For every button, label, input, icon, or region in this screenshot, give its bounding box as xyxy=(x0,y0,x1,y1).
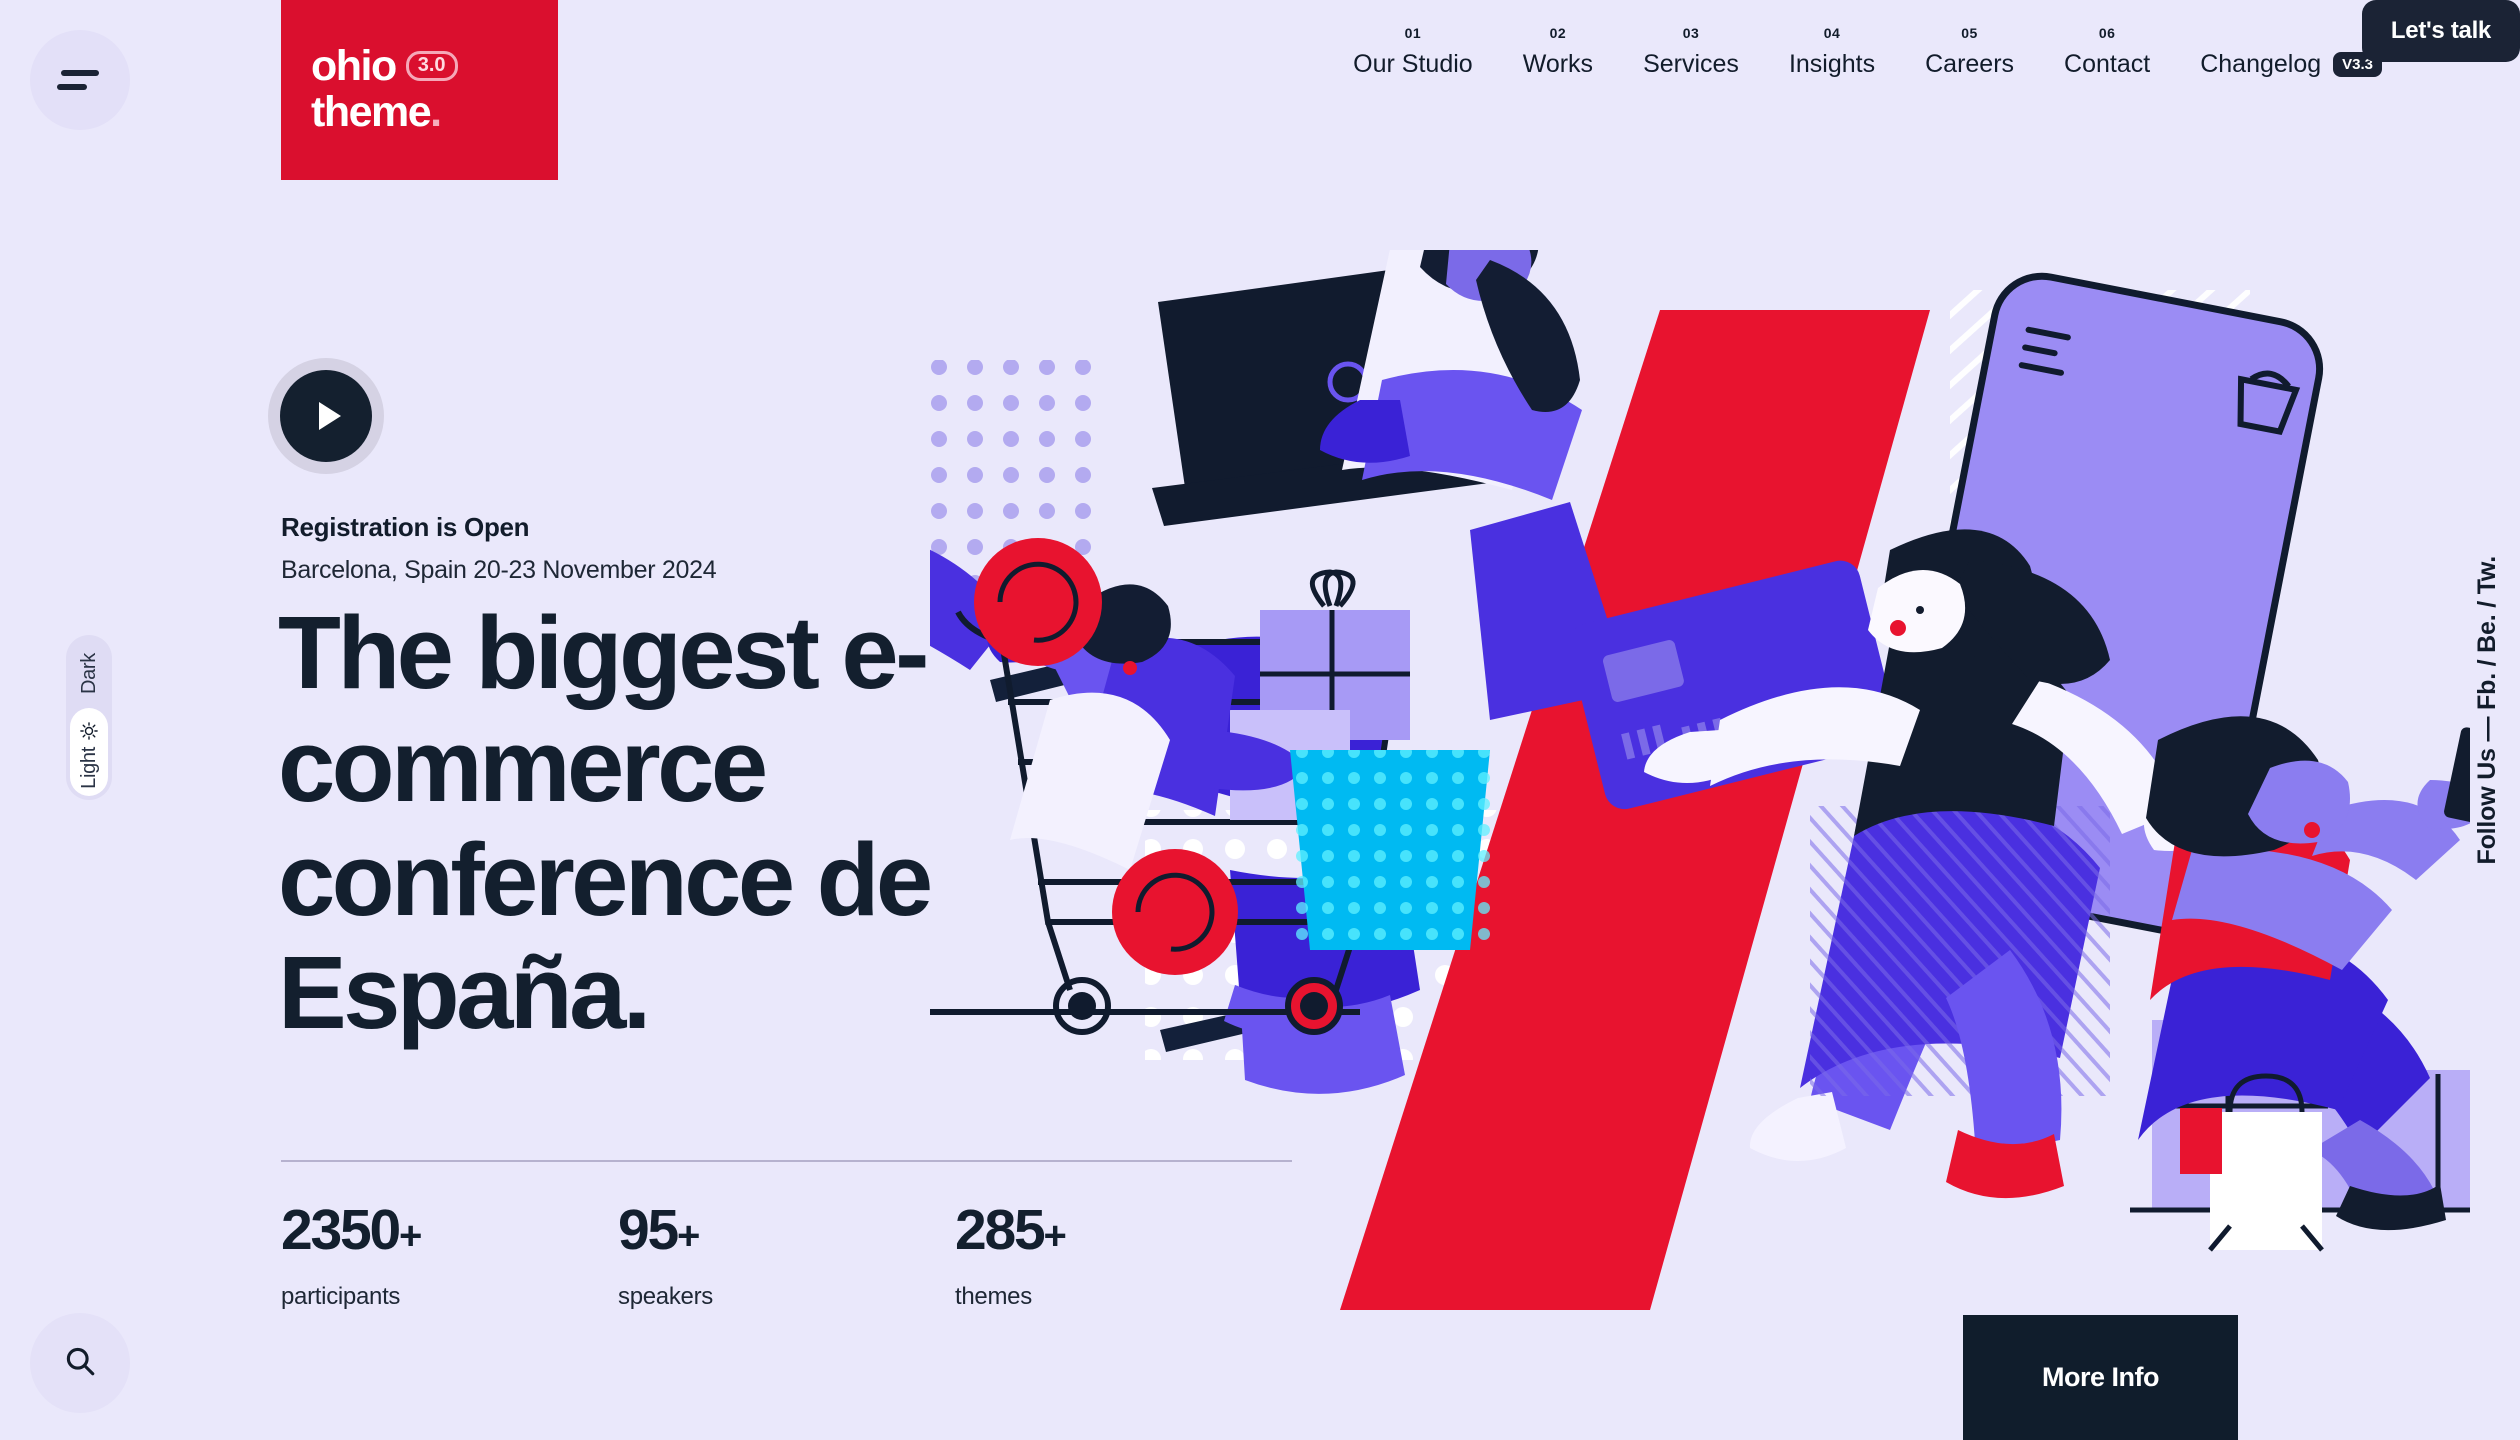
woman-seated-with-phone xyxy=(2130,716,2470,1250)
logo-version-badge: 3.0 xyxy=(406,51,458,81)
more-info-button[interactable]: More Info xyxy=(1963,1315,2238,1440)
more-info-label: More Info xyxy=(2042,1362,2159,1393)
cyan-shopping-bag xyxy=(1290,750,1490,950)
stat-value: 2350+ xyxy=(281,1202,618,1259)
logo-top-row: ohio 3.0 xyxy=(311,45,458,88)
nav-index: 02 xyxy=(1550,26,1567,40)
play-button-core xyxy=(280,370,372,462)
stat-speakers: 95+ speakers xyxy=(618,1160,955,1311)
hamburger-icon-line-1 xyxy=(61,70,99,76)
theme-option-light[interactable]: Light xyxy=(70,708,108,796)
main-navigation: 01 Our Studio 02 Works 03 Services 04 In… xyxy=(1328,52,2390,77)
nav-index: 04 xyxy=(1824,26,1841,40)
social-follow-label: Follow Us — Fb. / Be. / Tw. xyxy=(2473,556,2502,865)
social-follow-links[interactable]: Follow Us — Fb. / Be. / Tw. xyxy=(2473,540,2502,880)
page-root: ohio 3.0 theme. 01 Our Studio 02 Works 0… xyxy=(0,0,2520,1440)
nav-index: 06 xyxy=(2099,26,2116,40)
stat-suffix: + xyxy=(677,1214,699,1258)
logo-name: ohio xyxy=(311,45,396,88)
play-video-button[interactable] xyxy=(268,358,384,474)
theme-option-light-label: Light xyxy=(78,747,101,789)
nav-label: Services xyxy=(1643,50,1739,78)
nav-item-our-studio[interactable]: 01 Our Studio xyxy=(1328,52,1498,77)
red-circle-outline-bottom xyxy=(1112,849,1238,975)
nav-label: Our Studio xyxy=(1353,50,1473,78)
hero-eyebrow: Registration is Open xyxy=(281,512,529,543)
stat-label: speakers xyxy=(618,1283,955,1311)
stat-label: participants xyxy=(281,1283,618,1311)
hamburger-icon-line-2 xyxy=(57,84,87,90)
nav-label: Insights xyxy=(1789,50,1875,78)
nav-item-contact[interactable]: 06 Contact xyxy=(2039,52,2175,77)
hero-headline: The biggest e-commerce conference de Esp… xyxy=(278,596,1038,1049)
stat-suffix: + xyxy=(399,1214,421,1258)
logo-dot: . xyxy=(430,88,440,136)
nav-label: Works xyxy=(1523,50,1593,78)
theme-toggle[interactable]: Dark Light xyxy=(66,635,112,800)
stat-participants: 2350+ participants xyxy=(281,1160,618,1311)
site-logo[interactable]: ohio 3.0 theme. xyxy=(281,0,558,180)
stat-value: 95+ xyxy=(618,1202,955,1259)
nav-item-changelog[interactable]: Changelog V3.3 xyxy=(2175,52,2390,77)
lets-talk-button[interactable]: Let's talk xyxy=(2362,0,2520,62)
sun-icon xyxy=(79,721,99,741)
nav-label: Changelog xyxy=(2200,52,2321,77)
nav-index: 03 xyxy=(1683,26,1700,40)
nav-item-careers[interactable]: 05 Careers xyxy=(1900,52,2039,77)
nav-label: Contact xyxy=(2064,50,2150,78)
logo-word: theme. xyxy=(311,90,441,135)
hero-subline: Barcelona, Spain 20-23 November 2024 xyxy=(281,556,716,585)
nav-item-services[interactable]: 03 Services xyxy=(1618,52,1764,77)
nav-item-works[interactable]: 02 Works xyxy=(1498,52,1618,77)
hamburger-menu-button[interactable] xyxy=(30,30,130,130)
theme-option-dark[interactable]: Dark xyxy=(70,639,108,708)
search-button[interactable] xyxy=(30,1313,130,1413)
nav-index: 05 xyxy=(1961,26,1978,40)
play-icon xyxy=(319,402,341,430)
search-icon xyxy=(63,1344,97,1383)
ecommerce-hero-illustration xyxy=(930,250,2470,1310)
red-circle-outline-top xyxy=(974,538,1102,666)
nav-item-insights[interactable]: 04 Insights xyxy=(1764,52,1900,77)
nav-label: Careers xyxy=(1925,50,2014,78)
theme-option-dark-label: Dark xyxy=(78,653,101,694)
nav-index: 01 xyxy=(1405,26,1422,40)
